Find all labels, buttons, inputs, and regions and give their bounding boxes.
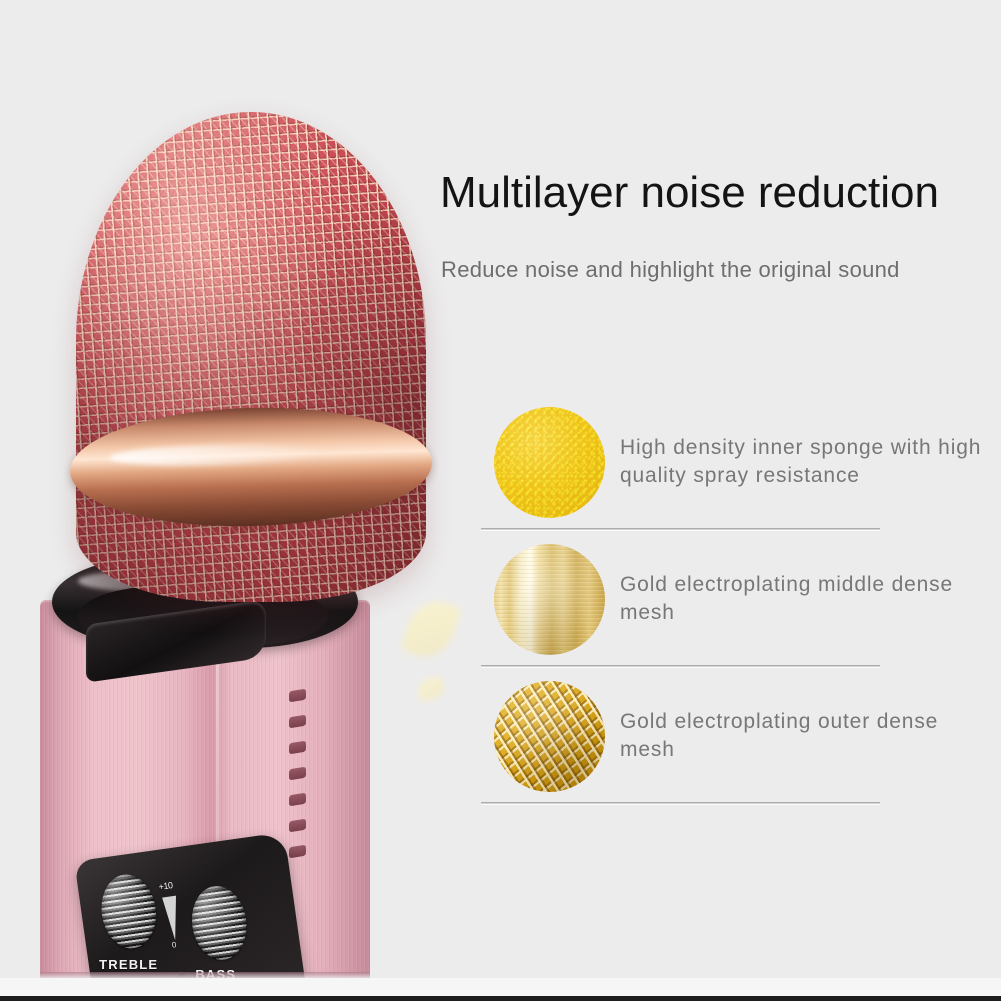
divider bbox=[481, 528, 880, 531]
divider bbox=[481, 665, 880, 668]
level-scale: +10 0 bbox=[156, 883, 187, 951]
page-subtitle: Reduce noise and highlight the original … bbox=[441, 255, 900, 285]
scale-max-label: +10 bbox=[158, 880, 173, 892]
microphone-product-image: +10 0 TREBLE BASS bbox=[0, 0, 470, 1001]
microphone-grille-dome bbox=[76, 112, 426, 602]
feature-text: Gold electroplating middle dense mesh bbox=[620, 571, 990, 627]
list-item: High density inner sponge with high qual… bbox=[481, 400, 886, 537]
scale-triangle-icon bbox=[162, 896, 182, 942]
treble-knob[interactable] bbox=[97, 871, 161, 952]
brushed-gold-swatch bbox=[494, 544, 605, 655]
feature-text: High density inner sponge with high qual… bbox=[620, 434, 990, 490]
scale-min-label: 0 bbox=[171, 940, 177, 950]
feature-text: Gold electroplating outer dense mesh bbox=[620, 708, 990, 764]
yellow-sponge-swatch bbox=[494, 407, 605, 518]
treble-label: TREBLE bbox=[99, 957, 158, 972]
list-item: Gold electroplating middle dense mesh bbox=[481, 537, 886, 674]
bass-knob[interactable] bbox=[187, 883, 251, 964]
list-item: Gold electroplating outer dense mesh bbox=[481, 674, 886, 811]
speaker-slots bbox=[285, 690, 311, 880]
grille-shading bbox=[76, 112, 426, 602]
gold-mesh-swatch bbox=[494, 681, 605, 792]
bottom-edge-line bbox=[0, 996, 1001, 1001]
page-title: Multilayer noise reduction bbox=[440, 168, 939, 218]
divider bbox=[481, 802, 880, 805]
feature-list: High density inner sponge with high qual… bbox=[481, 400, 886, 811]
product-banner: +10 0 TREBLE BASS Multilayer noise reduc… bbox=[0, 0, 1001, 1001]
